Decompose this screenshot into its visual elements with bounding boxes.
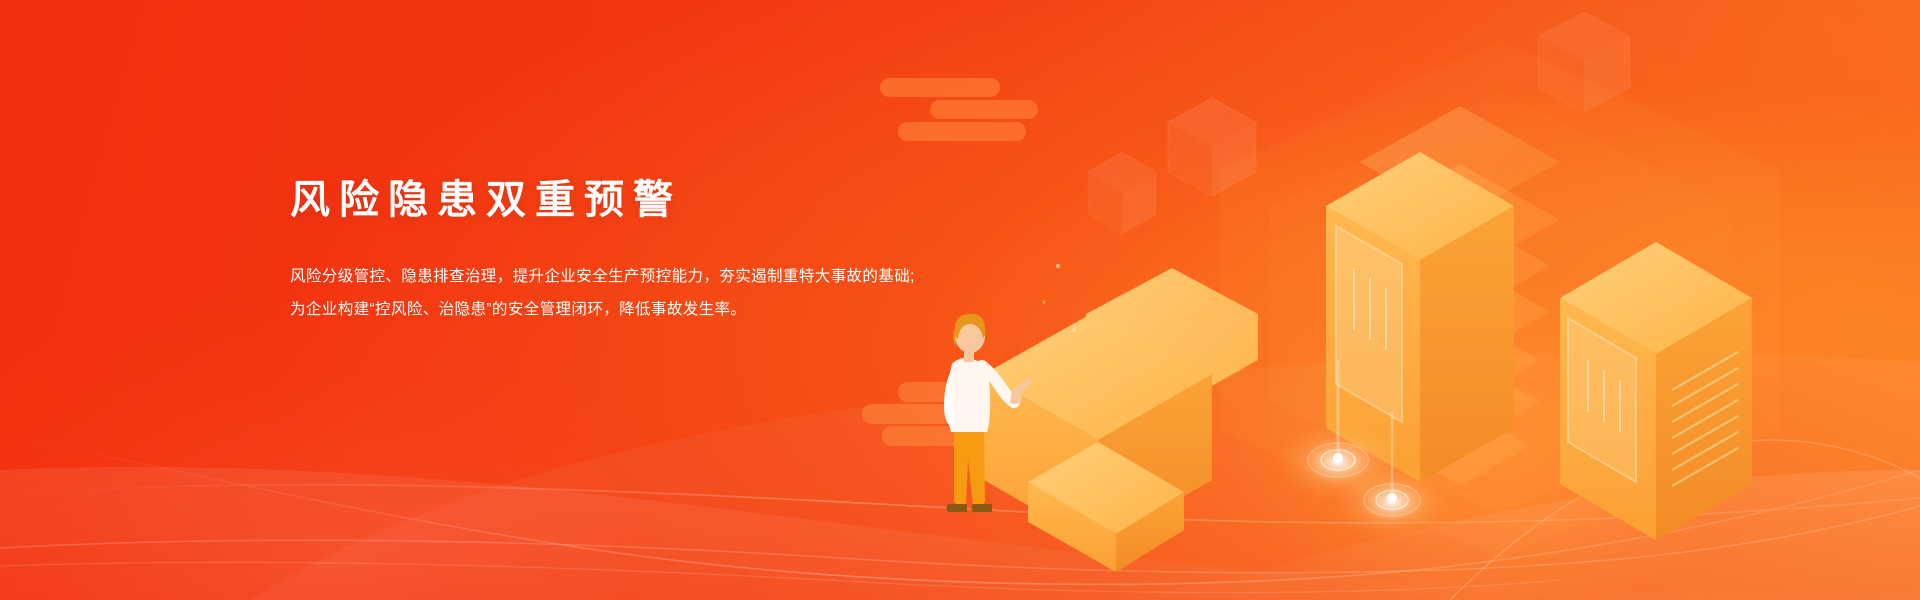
wave-band-left [0,467,1920,600]
illustration-container [940,30,1920,590]
background-glow-bottom-right [910,70,1920,600]
left-lower-block [984,310,1212,546]
wave-line-3 [0,506,1920,573]
wave-band-right [980,470,1920,600]
floating-wireframe-cube-top-right [1538,12,1630,112]
ghost-hex-backdrop [1220,40,1780,560]
stacked-data-layers [1360,106,1560,486]
rack-slot-lines-right [1672,352,1738,486]
floating-wireframe-cube-small [1088,152,1156,234]
rack-glass-panel-center [1336,226,1402,422]
rack-ridge-lines [1392,244,1480,378]
page-title: 风险隐患双重预警 [290,176,990,224]
isometric-data-center-illustration [940,30,1920,590]
cloud-streak-lower [862,382,1060,446]
server-rack-tall-center [1326,152,1514,482]
person-pointing [944,314,1032,512]
server-rack-left-block [1086,268,1258,480]
wave-line-2 [0,434,1920,584]
wave-sheen-diagonal [250,353,1920,600]
rack-glass-panel [1568,318,1636,482]
sparkle-dots [1035,264,1077,350]
server-rack-right [1560,242,1752,540]
wave-line-5 [0,562,1560,592]
floating-wireframe-cube-mid [1168,98,1256,196]
cloud-streak-upper [880,78,1038,141]
hero-banner: 风险隐患双重预警 风险分级管控、隐患排查治理，提升企业安全生产预控能力，夯实遏制… [0,0,1920,600]
wave-line-1 [0,485,1920,523]
wave-line-4 [1450,440,1920,600]
glow-node-lower-right [1334,412,1450,540]
hero-description-line-1: 风险分级管控、隐患排查治理，提升企业安全生产预控能力，夯实遏制重特大事故的基础; [290,260,990,293]
hero-description: 风险分级管控、隐患排查治理，提升企业安全生产预控能力，夯实遏制重特大事故的基础;… [290,260,990,326]
glow-node-lower-left [1276,360,1400,502]
hero-description-line-2: 为企业构建“控风险、治隐患”的安全管理闭环，降低事故发生率。 [290,293,990,326]
front-small-box [1028,442,1184,572]
hero-copy: 风险隐患双重预警 风险分级管控、隐患排查治理，提升企业安全生产预控能力，夯实遏制… [290,176,990,326]
